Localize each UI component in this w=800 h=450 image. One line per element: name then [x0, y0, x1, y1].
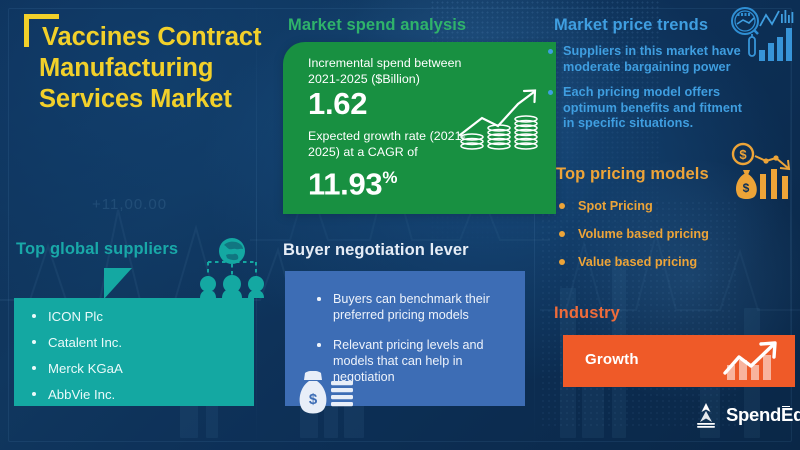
title-line-3: Services Market [39, 84, 306, 115]
infographic-canvas: +11,00.00 Vaccines ContractManufacturing… [0, 0, 800, 450]
industry-status-label: Growth [585, 351, 639, 368]
list-item: ICON Plc [24, 308, 239, 325]
buyer-negotiation-lever-heading: Buyer negotiation lever [283, 241, 469, 260]
list-item: Each pricing model offers optimum benefi… [546, 85, 748, 132]
market-price-trends-list: Suppliers in this market have moderate b… [546, 44, 748, 142]
spendedge-wordmark: SpendEdge™ [726, 404, 800, 426]
upward-trend-icon [721, 341, 783, 383]
spendedge-logo: SpendEdge™ [693, 402, 800, 428]
list-item: Volume based pricing [556, 226, 746, 242]
top-global-suppliers-heading: Top global suppliers [16, 240, 178, 259]
page-title: Vaccines ContractManufacturingServices M… [24, 22, 306, 115]
market-spend-analysis-card: Incremental spend between 2021-2025 ($Bi… [283, 42, 556, 214]
globe-network-icon [196, 236, 268, 298]
industry-heading: Industry [554, 304, 620, 323]
title-line-1: Vaccines Contract [42, 23, 261, 51]
growth-rate-number: 11.93 [308, 166, 382, 201]
top-global-suppliers-list: ICON Plc Catalent Inc. Merck KGaA AbbVie… [24, 308, 239, 412]
coins-growth-icon [456, 80, 544, 152]
incremental-spend-value: 1.62 [308, 87, 367, 120]
svg-text:$: $ [309, 391, 318, 408]
list-item: AbbVie Inc. [24, 386, 239, 403]
list-item: Catalent Inc. [24, 334, 239, 351]
list-item: Suppliers in this market have moderate b… [546, 44, 748, 75]
top-pricing-models-list: Spot Pricing Volume based pricing Value … [556, 198, 746, 282]
growth-rate-value: 11.93% [308, 161, 397, 200]
list-item: Value based pricing [556, 254, 746, 270]
list-item: Merck KGaA [24, 360, 239, 377]
suppliers-callout-tail [104, 268, 132, 299]
logo-macron-accent [782, 406, 790, 408]
percent-symbol: % [382, 168, 397, 187]
spendedge-chevron-icon [693, 402, 719, 428]
title-bracket-accent [24, 14, 59, 47]
top-global-suppliers-card: ICON Plc Catalent Inc. Merck KGaA AbbVie… [14, 298, 254, 406]
market-price-trends-heading: Market price trends [554, 16, 708, 35]
svg-text:$: $ [739, 147, 747, 162]
top-pricing-models-heading: Top pricing models [556, 165, 709, 184]
svg-text:$: $ [743, 181, 750, 195]
list-item: Buyers can benchmark their preferred pri… [313, 291, 513, 323]
market-spend-analysis-heading: Market spend analysis [288, 16, 466, 35]
background-ticker-text: +11,00.00 [92, 196, 167, 213]
industry-growth-badge: Growth [563, 335, 795, 387]
title-line-2: Manufacturing [39, 53, 306, 84]
money-bag-chart-icon: $ $ [730, 142, 796, 202]
buyer-negotiation-lever-card: Buyers can benchmark their preferred pri… [285, 271, 525, 406]
title-text: Vaccines ContractManufacturingServices M… [24, 22, 306, 115]
money-bag-list-icon: $ [295, 371, 361, 417]
list-item: Spot Pricing [556, 198, 746, 214]
